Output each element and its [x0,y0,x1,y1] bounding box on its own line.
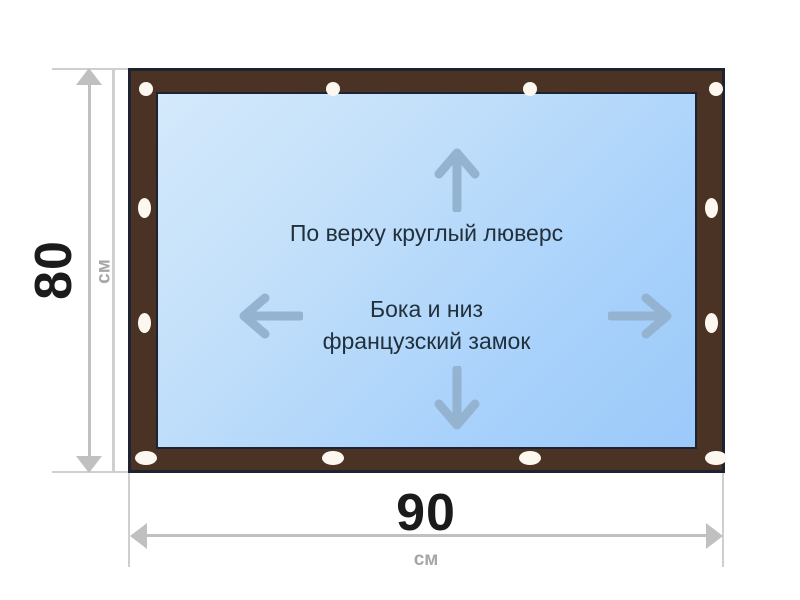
height-value: 80 [28,240,80,300]
height-arrow-up-icon [76,68,102,85]
width-unit: см [128,550,724,569]
height-dimension-line [88,72,91,467]
side-bottom-note-line1: Бока и низ [158,294,695,324]
diagram-canvas: 80 см [0,0,800,600]
fabric-panel: По верху круглый люверс Бока и низ франц… [156,92,697,449]
arrow-up-icon [434,146,480,212]
grommet-top-3 [523,82,537,96]
arrow-down-icon [434,366,480,432]
grommet-bottom-3 [519,451,541,465]
width-value: 90 [128,487,724,539]
grommet-left-1 [138,198,151,218]
side-bottom-note-line2: французский замок [158,326,695,356]
grommet-left-2 [138,313,151,333]
grommet-top-4 [709,82,723,96]
grommet-bottom-1 [135,451,157,465]
grommet-top-1 [139,82,153,96]
height-unit: см [95,252,114,292]
curtain-frame: По верху круглый люверс Бока и низ франц… [128,68,725,473]
height-arrow-down-icon [76,456,102,473]
grommet-bottom-2 [322,451,344,465]
grommet-bottom-4 [705,451,727,465]
grommet-top-2 [326,82,340,96]
top-grommet-note: По верху круглый люверс [158,218,695,248]
grommet-right-2 [705,313,718,333]
grommet-right-1 [705,198,718,218]
